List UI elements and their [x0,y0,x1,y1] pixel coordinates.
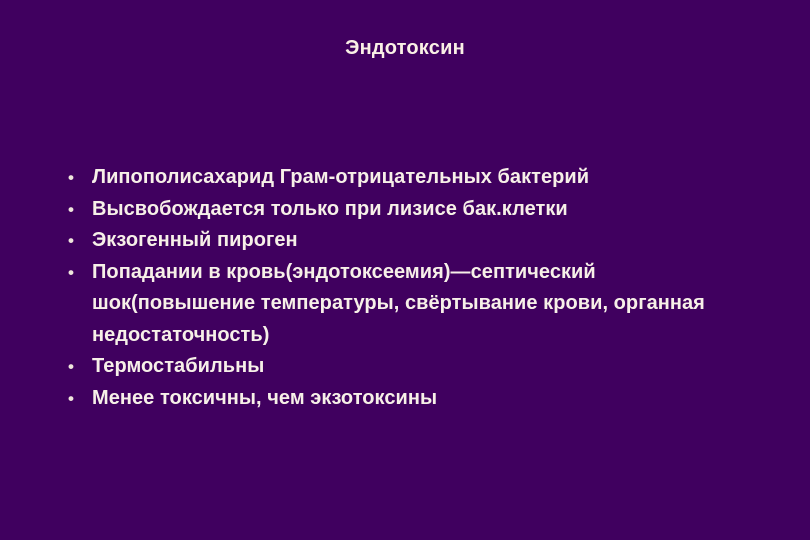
list-item-label: Экзогенный пироген [92,225,760,257]
bullet-point-icon: • [68,383,78,415]
list-item-label: Термостабильны [92,351,760,383]
page-title: Эндотоксин [0,36,810,60]
list-item: • Липополисахарид Грам-отрицательных бак… [60,162,760,194]
list-item: • Термостабильны [60,351,760,383]
bullet-point-icon: • [68,194,78,226]
list-item-label: Высвобождается только при лизисе бак.кле… [92,194,760,226]
list-item-label: Менее токсичны, чем экзотоксины [92,383,760,415]
list-item-label: Попадании в кровь(эндотоксеемия)—септиче… [92,257,760,352]
list-item: • Экзогенный пироген [60,225,760,257]
presentation-slide: Эндотоксин • Липополисахарид Грам-отрица… [0,0,810,540]
bullet-point-icon: • [68,162,78,194]
list-item: • Высвобождается только при лизисе бак.к… [60,194,760,226]
list-item-label: Липополисахарид Грам-отрицательных бакте… [92,162,760,194]
list-item: • Менее токсичны, чем экзотоксины [60,383,760,415]
bullet-list: • Липополисахарид Грам-отрицательных бак… [60,162,760,414]
bullet-point-icon: • [68,257,78,289]
bullet-point-icon: • [68,351,78,383]
bullet-point-icon: • [68,225,78,257]
list-item: • Попадании в кровь(эндотоксеемия)—септи… [60,257,760,352]
